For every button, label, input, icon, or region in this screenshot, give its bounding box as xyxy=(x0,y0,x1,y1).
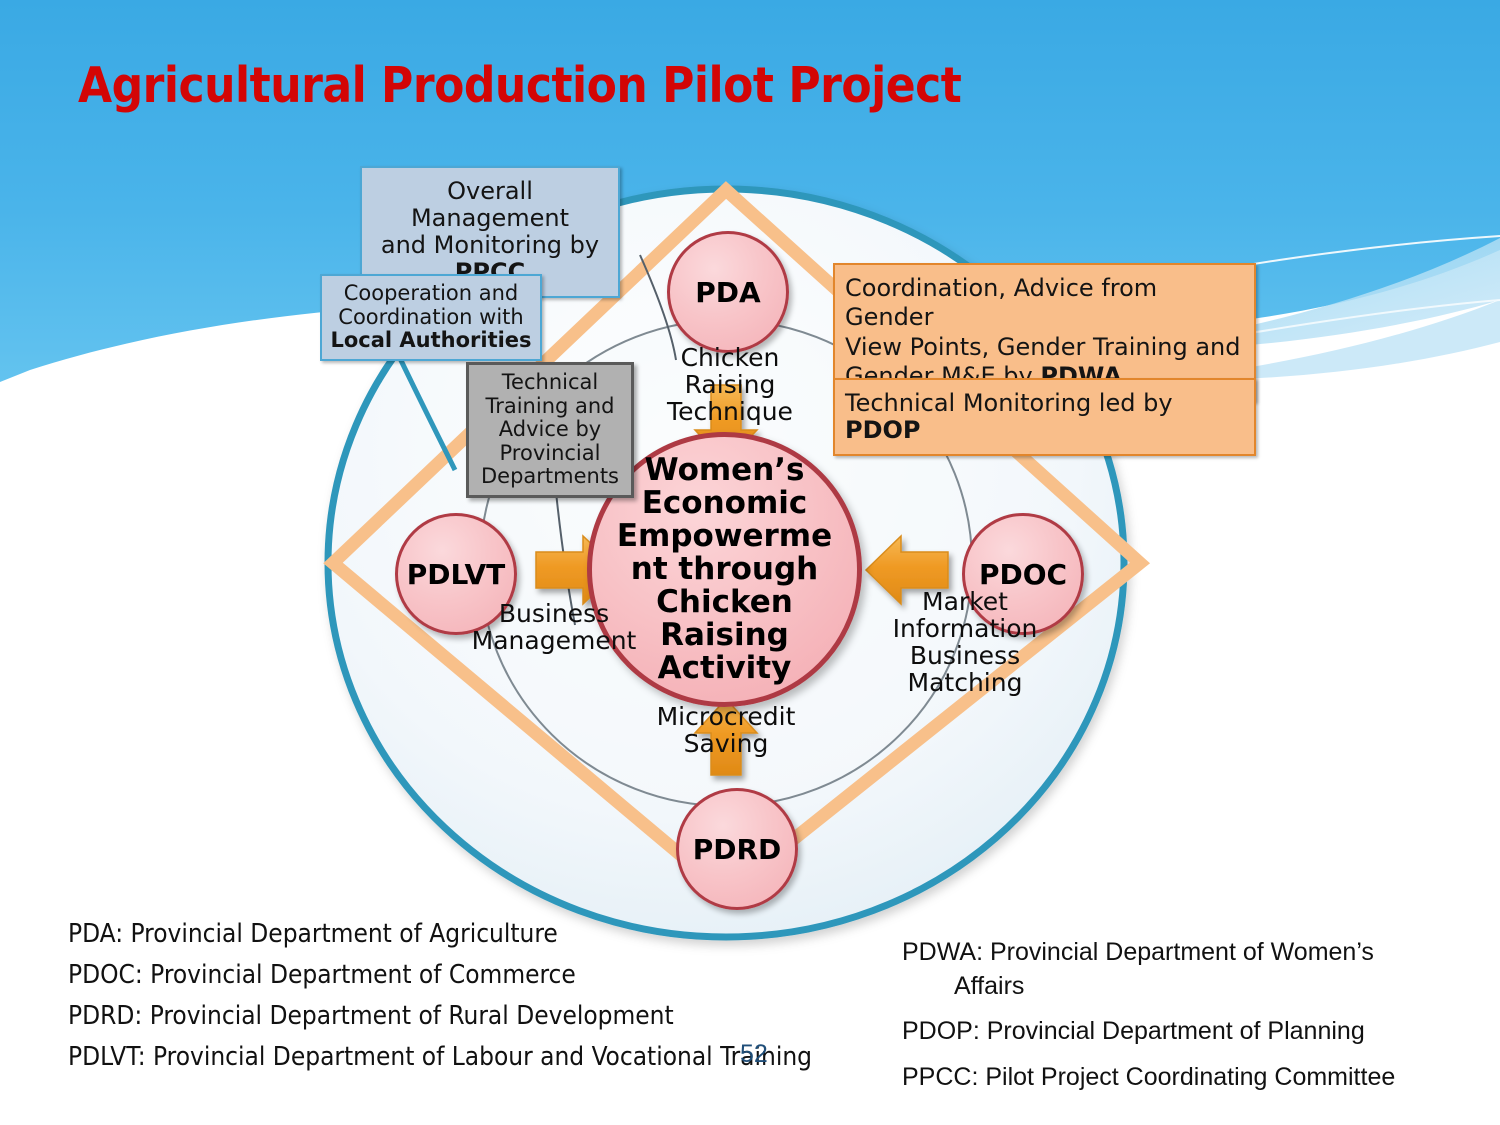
callout-technical-training-line5: Departments xyxy=(473,465,627,489)
flow-label-microcredit-saving: Microcredit Saving xyxy=(652,703,800,757)
callout-ppcc-line2: and Monitoring by xyxy=(370,232,610,259)
legend-right-pdwa-line2: Affairs xyxy=(902,970,1395,1004)
legend-right: PDWA: Provincial Department of Women’s A… xyxy=(902,936,1395,1106)
legend-right-item-pdop: PDOP: Provincial Department of Planning xyxy=(902,1015,1395,1049)
flow-label-market-information-business-matching: Market Information Business Matching xyxy=(890,588,1040,696)
flow-right-line4: Matching xyxy=(890,669,1040,696)
callout-technical-training[interactable]: Technical Training and Advice by Provinc… xyxy=(466,362,634,498)
callout-technical-training-line1: Technical xyxy=(473,371,627,395)
callout-pdop-line: Technical Monitoring led by PDOP xyxy=(845,390,1244,444)
callout-local-authorities-emphasis: Local Authorities xyxy=(328,329,534,353)
flow-label-business-management: Business Management xyxy=(468,600,640,654)
callout-technical-training-line4: Provincial xyxy=(473,442,627,466)
legend-left-item-pdoc: PDOC: Provincial Department of Commerce xyxy=(68,955,812,996)
legend-right-ppcc-line1: PPCC: Pilot Project Coordinating Committ… xyxy=(902,1061,1395,1095)
legend-right-pdwa-line1: PDWA: Provincial Department of Women’s xyxy=(902,936,1395,970)
legend-right-item-pdwa: PDWA: Provincial Department of Women’s A… xyxy=(902,936,1395,1003)
flow-bottom-line2: Saving xyxy=(652,730,800,757)
flow-top-line1: Chicken xyxy=(660,344,800,371)
flow-bottom-line1: Microcredit xyxy=(652,703,800,730)
flow-right-line3: Business xyxy=(890,642,1040,669)
node-pdlvt-label: PDLVT xyxy=(407,558,506,591)
legend-left: PDA: Provincial Department of Agricultur… xyxy=(68,914,812,1078)
center-line7: Activity xyxy=(592,652,857,685)
callout-pdwa-line1: Coordination, Advice from Gender xyxy=(845,274,1244,333)
slide-canvas: Agricultural Production Pilot Project xyxy=(0,0,1500,1125)
center-line3: Empowerme xyxy=(592,520,857,553)
callout-technical-training-line2: Training and xyxy=(473,395,627,419)
legend-right-pdop-line1: PDOP: Provincial Department of Planning xyxy=(902,1015,1395,1049)
callout-pdop[interactable]: Technical Monitoring led by PDOP xyxy=(833,378,1256,456)
node-pdoc-label: PDOC xyxy=(979,558,1067,591)
center-line4: nt through xyxy=(592,553,857,586)
node-pdrd[interactable]: PDRD xyxy=(676,788,798,910)
legend-left-item-pdlvt: PDLVT: Provincial Department of Labour a… xyxy=(68,1037,812,1078)
flow-right-line1: Market xyxy=(890,588,1040,615)
node-pdrd-label: PDRD xyxy=(693,833,782,866)
callout-local-authorities-line2: Coordination with xyxy=(328,306,534,330)
flow-right-line2: Information xyxy=(890,615,1040,642)
flow-left-line1: Business xyxy=(468,600,640,627)
callout-pdop-prefix: Technical Monitoring led by xyxy=(845,389,1173,417)
flow-left-line2: Management xyxy=(468,627,640,654)
node-pda-label: PDA xyxy=(695,276,760,309)
callout-pdwa-line2: View Points, Gender Training and xyxy=(845,333,1244,362)
node-pda[interactable]: PDA xyxy=(667,231,789,353)
legend-left-item-pda: PDA: Provincial Department of Agricultur… xyxy=(68,914,812,955)
callout-local-authorities[interactable]: Cooperation and Coordination with Local … xyxy=(320,274,542,361)
callout-pdop-emphasis: PDOP xyxy=(845,416,921,444)
flow-label-chicken-raising-technique: Chicken Raising Technique xyxy=(660,344,800,425)
flow-top-line3: Technique xyxy=(660,398,800,425)
callout-technical-training-line3: Advice by xyxy=(473,418,627,442)
flow-top-line2: Raising xyxy=(660,371,800,398)
legend-right-item-ppcc: PPCC: Pilot Project Coordinating Committ… xyxy=(902,1061,1395,1095)
callout-local-authorities-line1: Cooperation and xyxy=(328,282,534,306)
page-number: 52 xyxy=(740,1040,768,1069)
page-title: Agricultural Production Pilot Project xyxy=(78,57,961,114)
callout-ppcc-line1: Overall Management xyxy=(370,178,610,232)
legend-left-item-pdrd: PDRD: Provincial Department of Rural Dev… xyxy=(68,996,812,1037)
